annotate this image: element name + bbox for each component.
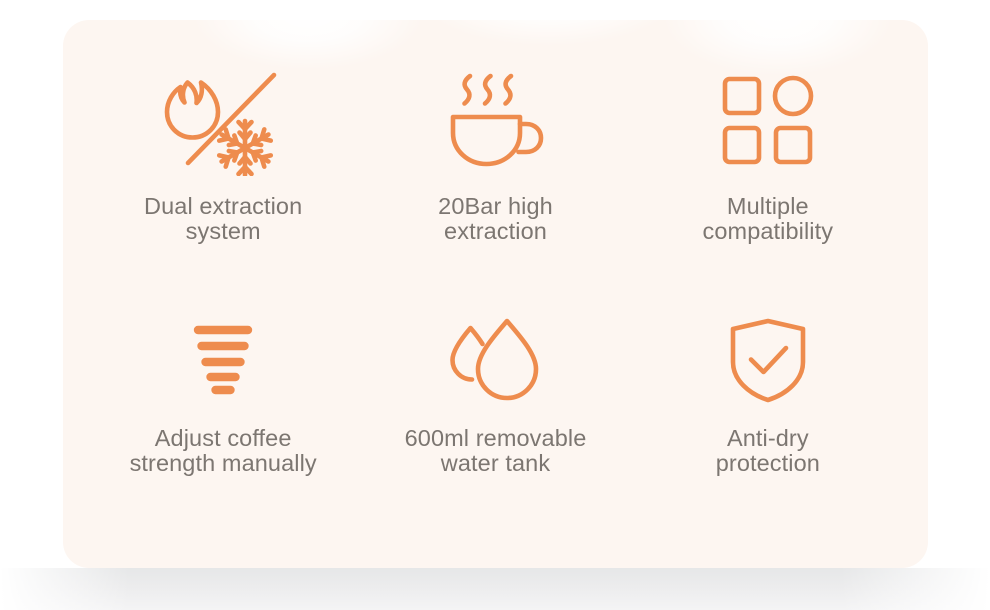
icon-container [727, 312, 809, 408]
feature-label: Dual extraction system [144, 194, 302, 245]
feature-label: 600ml removable water tank [405, 426, 587, 477]
feature-item-anti-dry-protection: Anti-dry protection [632, 298, 904, 534]
icon-container [448, 312, 542, 408]
feature-grid: Dual extraction system [63, 20, 928, 568]
feature-item-adjust-strength: Adjust coffee strength manually [87, 298, 359, 534]
grid-shapes-icon [720, 74, 816, 168]
feature-label: Adjust coffee strength manually [130, 426, 317, 477]
flame-snowflake-icon [157, 66, 289, 176]
feature-label: 20Bar high extraction [438, 194, 553, 245]
bottom-gradient-band [0, 568, 990, 610]
icon-container [440, 62, 550, 180]
feature-card: Dual extraction system [63, 20, 928, 568]
shield-check-icon [727, 317, 809, 403]
strength-bars-icon [192, 324, 254, 396]
icon-container [720, 62, 816, 180]
coffee-cup-steam-icon [440, 70, 550, 172]
feature-item-multiple-compatibility: Multiple compatibility [632, 62, 904, 298]
feature-label: Multiple compatibility [703, 194, 834, 245]
feature-item-dual-extraction: Dual extraction system [87, 62, 359, 298]
icon-container [192, 312, 254, 408]
feature-label: Anti-dry protection [716, 426, 820, 477]
water-droplets-icon [448, 317, 542, 403]
feature-item-water-tank: 600ml removable water tank [359, 298, 631, 534]
icon-container [157, 62, 289, 180]
feature-item-high-extraction: 20Bar high extraction [359, 62, 631, 298]
